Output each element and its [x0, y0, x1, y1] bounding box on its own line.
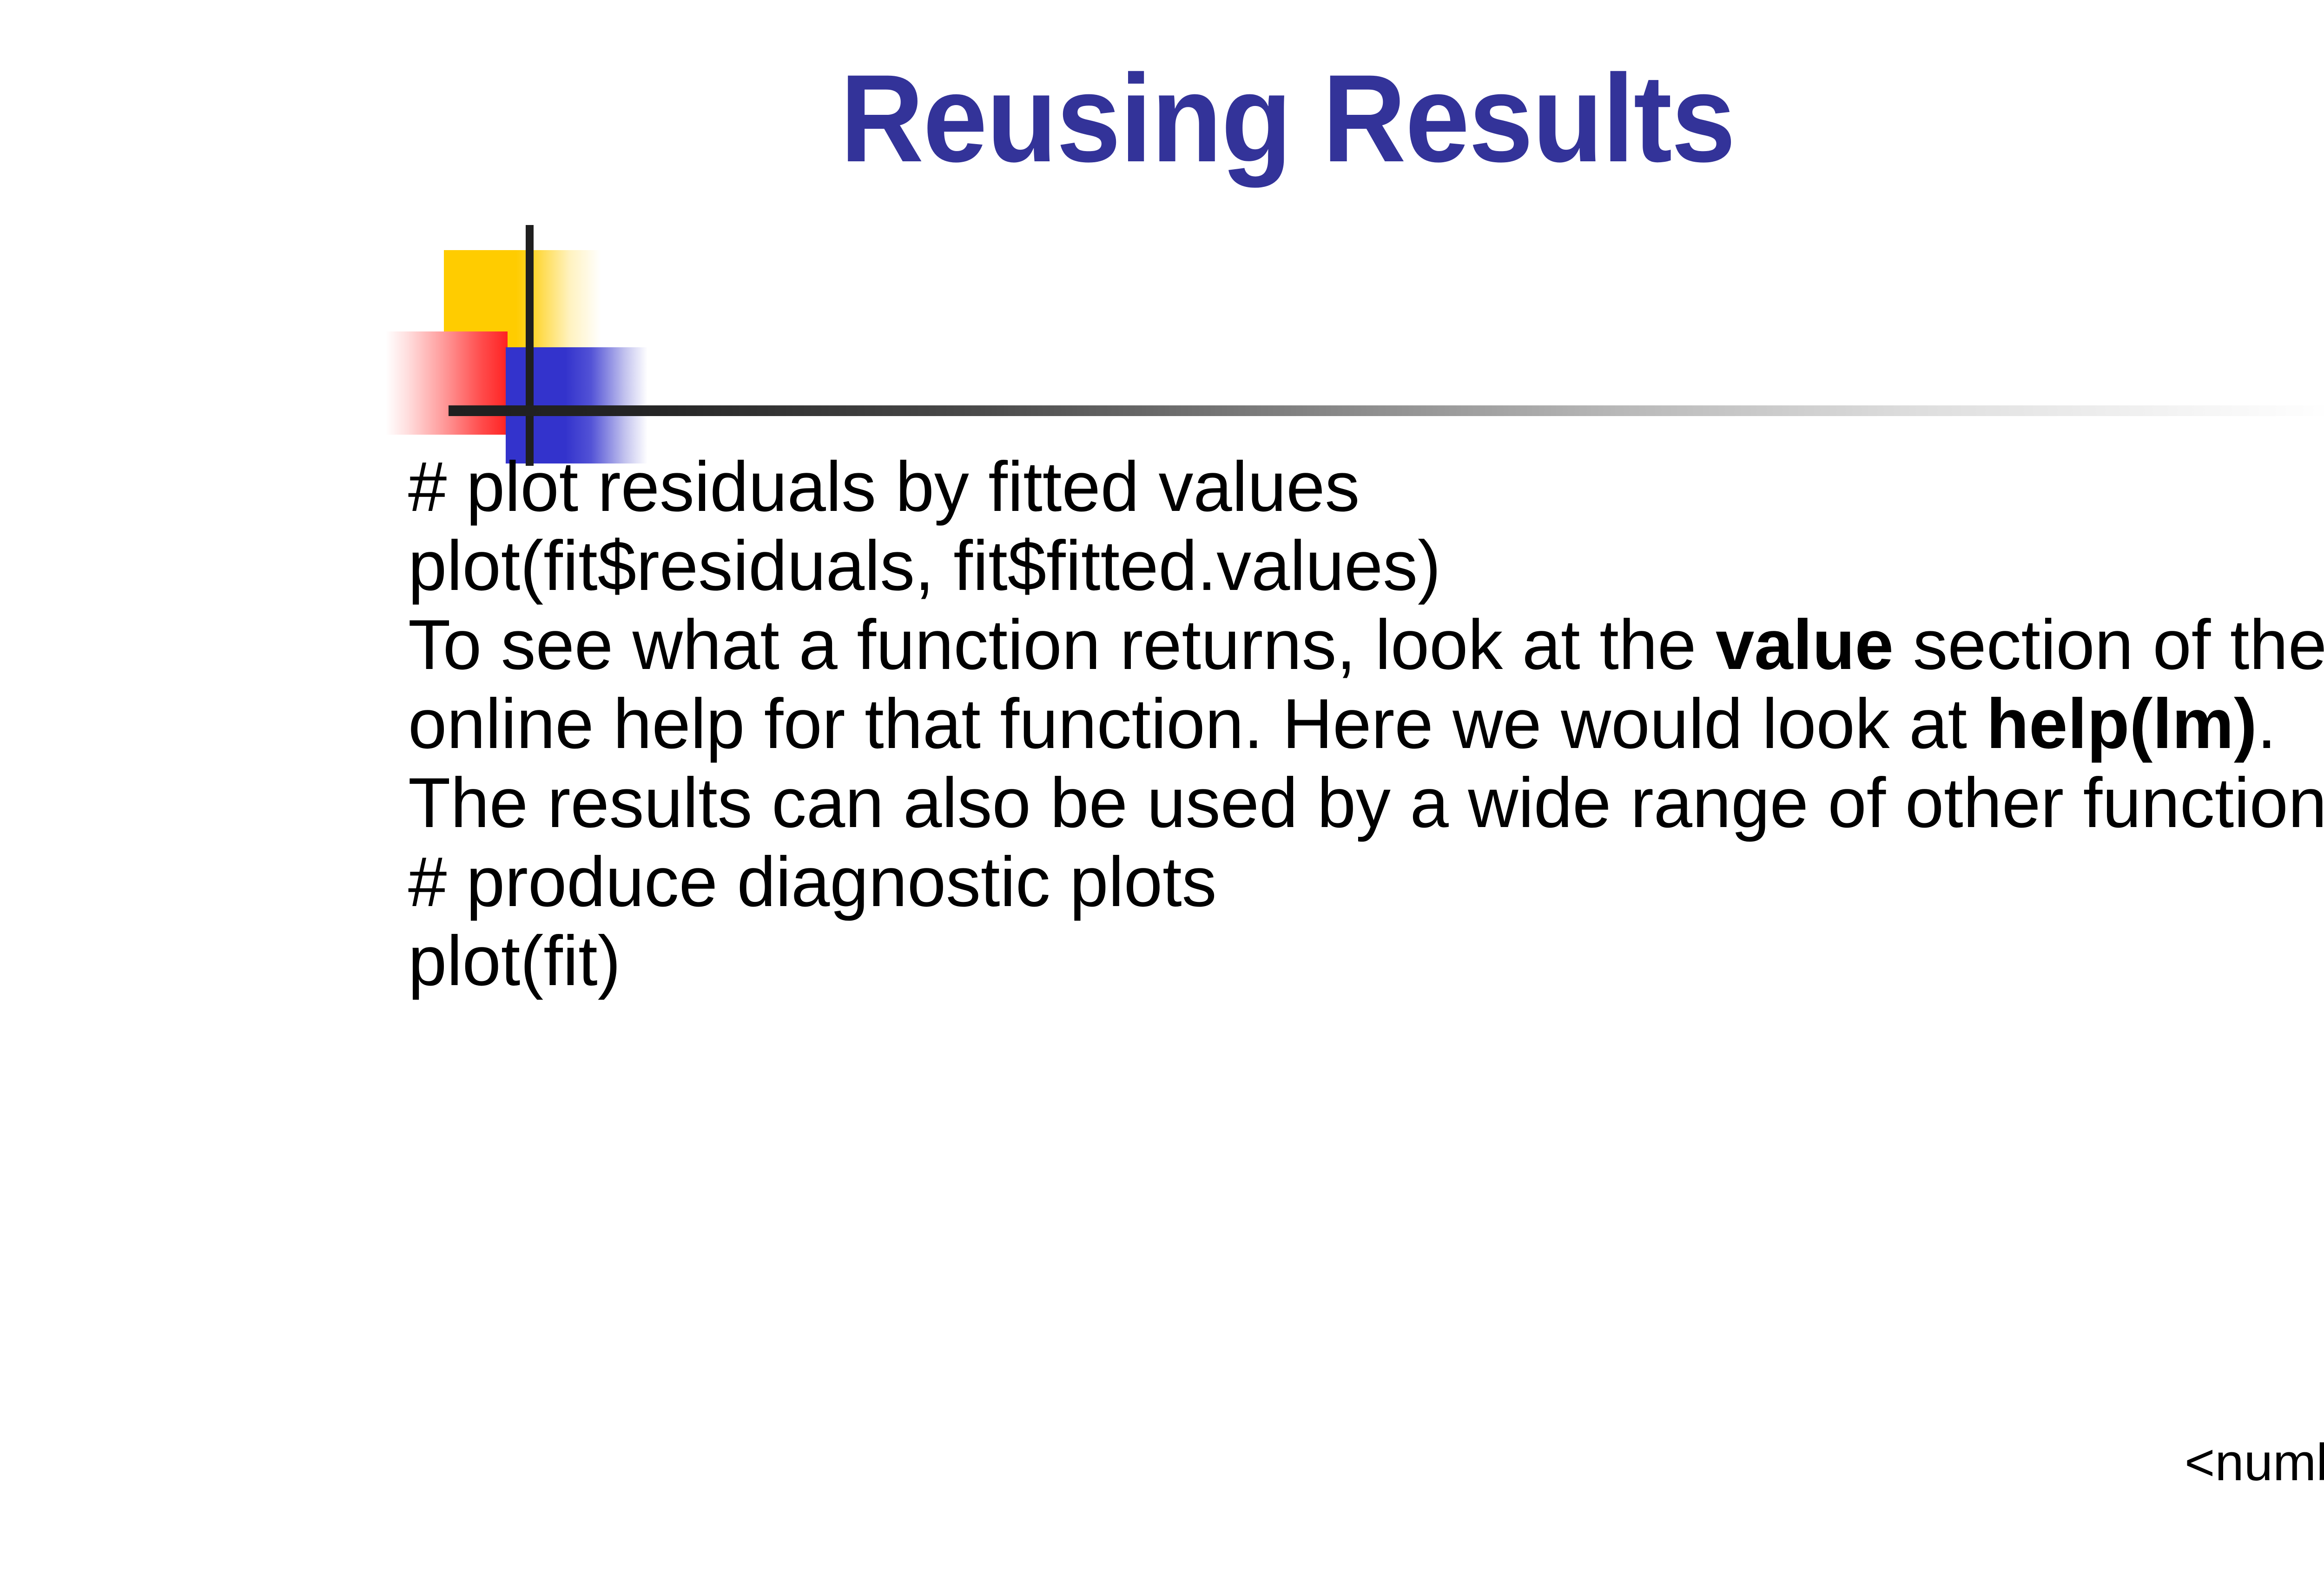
- page-title: Reusing Results: [90, 56, 2324, 180]
- body-text-run: To see what a function returns, look at …: [408, 605, 1716, 684]
- motif-horizontal-rule: [449, 405, 2324, 416]
- body-text-line-6: # produce diagnostic plots: [408, 842, 2324, 921]
- body-text-run: plot(fit): [408, 921, 621, 1000]
- motif-red-rect: [386, 331, 508, 435]
- body-text-run: section of the: [1894, 605, 2324, 684]
- body-text-line-1: # plot residuals by fitted values: [408, 447, 2324, 526]
- body-text-line-5: The results can also be used by a wide r…: [408, 763, 2324, 842]
- motif-vertical-rule: [526, 225, 534, 466]
- body-text-emphasis: help(lm): [1987, 684, 2257, 763]
- body-text-line-7: plot(fit): [408, 921, 2324, 1000]
- body-text-line-3: To see what a function returns, look at …: [408, 605, 2324, 684]
- body-text-emphasis: value: [1716, 605, 1894, 684]
- motif-blue-rect: [506, 347, 647, 463]
- body-text-run: The results can also be used by a wide r…: [408, 763, 2324, 842]
- body-text-line-4: online help for that function. Here we w…: [408, 684, 2324, 763]
- body-text-line-2: plot(fit$residuals, fit$fitted.values): [408, 526, 2324, 605]
- body-text-run: .: [2257, 684, 2277, 763]
- slide-canvas: Reusing Results # plot residuals by fitt…: [0, 0, 2324, 1569]
- body-text-run: # produce diagnostic plots: [408, 842, 1217, 921]
- body-text-run: online help for that function. Here we w…: [408, 684, 1987, 763]
- motif-yellow-rect: [444, 250, 601, 351]
- slide-number-placeholder: <number>: [2185, 1437, 2324, 1489]
- body-text-run: plot(fit$residuals, fit$fitted.values): [408, 526, 1441, 605]
- slide-body-text: # plot residuals by fitted valuesplot(fi…: [408, 447, 2324, 1000]
- body-text-run: # plot residuals by fitted values: [408, 447, 1360, 526]
